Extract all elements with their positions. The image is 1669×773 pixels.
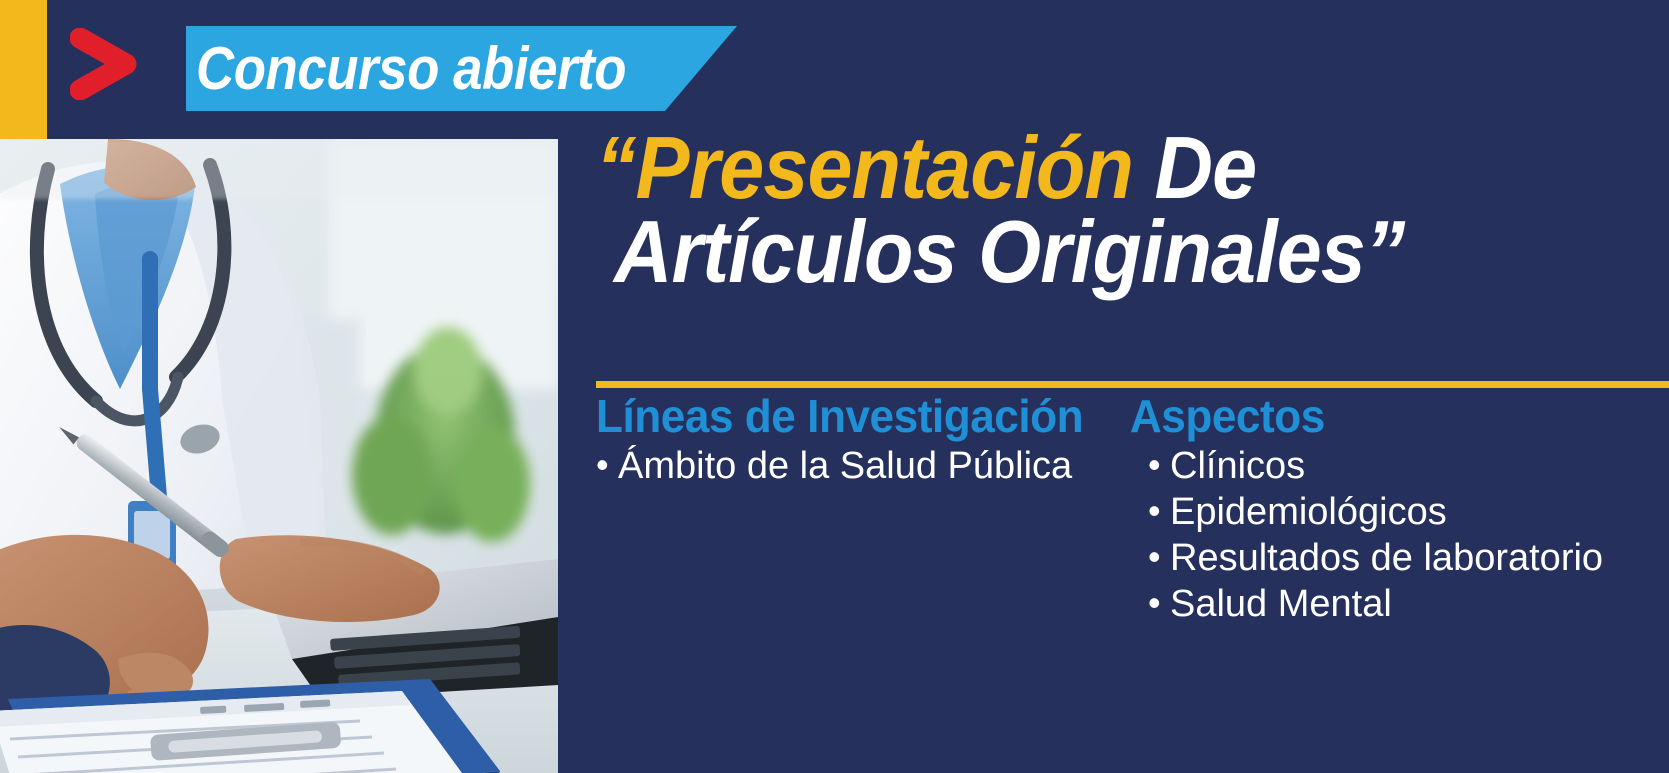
title-line-2: Artículos Originales” (614, 210, 1573, 294)
column-aspectos: Aspectos Clínicos Epidemiológicos Result… (1126, 392, 1646, 628)
list-item: Clínicos (1148, 444, 1646, 490)
aspectos-list: Clínicos Epidemiológicos Resultados de l… (1126, 444, 1646, 628)
list-item: Resultados de laboratorio (1148, 536, 1646, 582)
list-item: Epidemiológicos (1148, 490, 1646, 536)
tag-banner-label: Concurso abierto (196, 26, 654, 111)
column-heading-lineas: Líneas de Investigación (596, 392, 1105, 442)
chevron-right-icon (70, 28, 140, 100)
title-line-1: “Presentación De (596, 126, 1571, 210)
doctor-photo (0, 139, 558, 773)
list-item: Salud Mental (1148, 582, 1646, 628)
column-lineas-investigacion: Líneas de Investigación Ámbito de la Sal… (596, 392, 1126, 490)
info-columns: Líneas de Investigación Ámbito de la Sal… (596, 392, 1669, 628)
yellow-accent-bar (0, 0, 47, 139)
promo-banner: Concurso abierto (0, 0, 1669, 773)
lineas-list: Ámbito de la Salud Pública (596, 444, 1126, 490)
column-heading-aspectos: Aspectos (1126, 392, 1625, 442)
yellow-divider (596, 381, 1669, 388)
banner-title: “Presentación De Artículos Originales” (596, 126, 1656, 295)
list-item: Ámbito de la Salud Pública (596, 444, 1126, 490)
